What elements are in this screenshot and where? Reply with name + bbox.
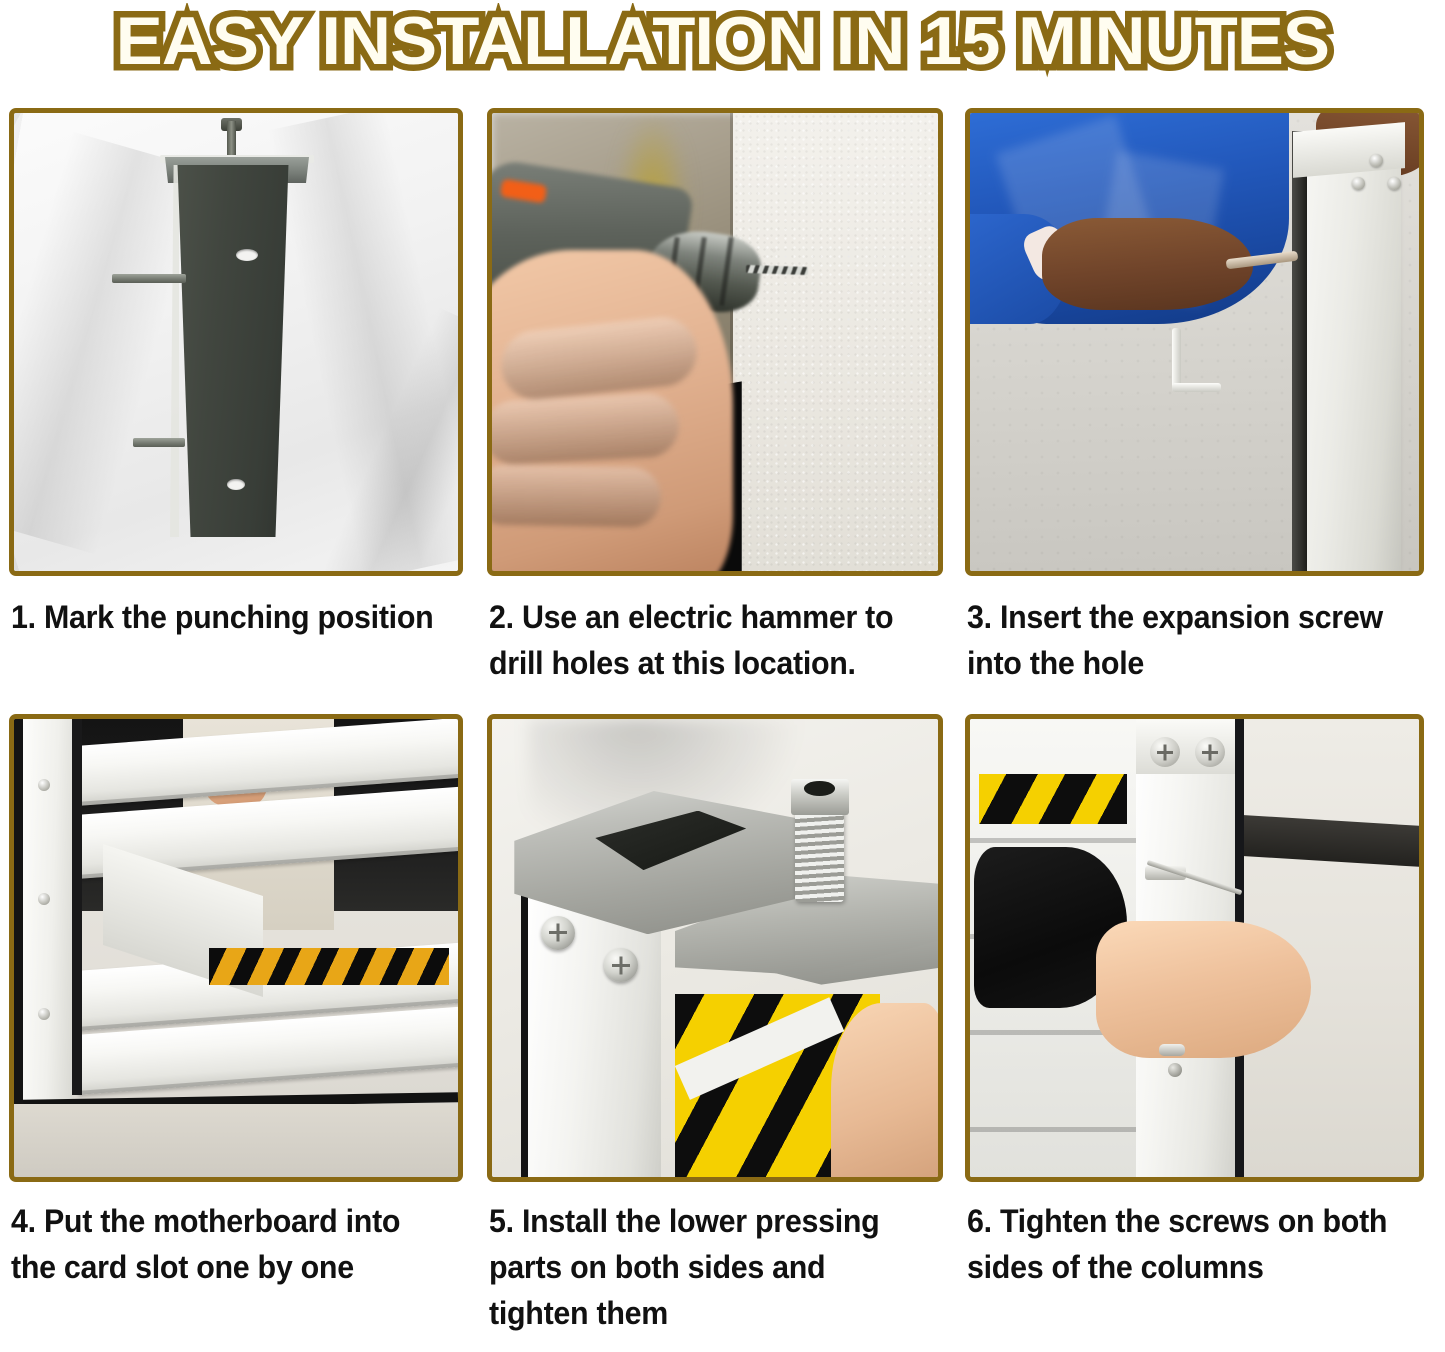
step-1-scene — [14, 113, 458, 571]
step-card-2: 2. Use an electric hammer to drill holes… — [477, 108, 955, 714]
step-5-scene — [492, 719, 938, 1177]
board-seam — [970, 838, 1150, 843]
step-4-photo — [9, 714, 463, 1182]
post-channel-groove — [72, 719, 83, 1095]
lower-screw-head — [1168, 1063, 1182, 1077]
page-title: EASY INSTALLATION IN 15 MINUTES — [116, 2, 1329, 80]
step-1-photo — [9, 108, 463, 576]
step-5-photo — [487, 714, 943, 1182]
bolt-hole-upper — [236, 249, 258, 261]
step-card-4: 4. Put the motherboard into the card slo… — [0, 714, 477, 1338]
bolt-hole-lower — [227, 479, 245, 490]
textured-wall — [733, 113, 938, 571]
step-card-1: 1. Mark the punching position — [0, 108, 477, 714]
alignment-pin-upper — [112, 274, 186, 283]
lower-screw-bracket — [1159, 1044, 1185, 1056]
step-card-3: 3. Insert the expansion screw into the h… — [955, 108, 1433, 714]
step-6-scene — [970, 719, 1419, 1177]
step-6-caption: 6. Tighten the screws on both sides of t… — [967, 1198, 1401, 1338]
board-seam — [970, 1127, 1150, 1132]
post-screw — [38, 1008, 50, 1020]
column-screw — [1150, 737, 1180, 767]
step-2-photo — [487, 108, 943, 576]
step-1-caption: 1. Mark the punching position — [11, 594, 440, 714]
hazard-stripe-tape — [209, 948, 449, 985]
allen-key-on-floor — [1172, 328, 1239, 392]
finger — [492, 392, 681, 466]
hex-socket-recess — [804, 781, 835, 796]
header-banner: EASY INSTALLATION IN 15 MINUTES — [0, 0, 1445, 108]
step-card-5: 5. Install the lower pressing parts on b… — [477, 714, 955, 1338]
step-6-photo — [965, 714, 1424, 1182]
finger — [492, 464, 662, 527]
alignment-pin-lower — [133, 438, 185, 447]
worker-forearm — [1042, 218, 1253, 310]
phillips-screw — [604, 948, 638, 982]
step-3-scene — [970, 113, 1419, 571]
step-4-scene — [14, 719, 458, 1177]
column-screw — [1195, 737, 1225, 767]
step-2-scene — [492, 113, 938, 571]
installer-hand — [1096, 921, 1312, 1058]
step-4-caption: 4. Put the motherboard into the card slo… — [11, 1198, 440, 1338]
white-column — [1307, 136, 1401, 571]
step-2-caption: 2. Use an electric hammer to drill holes… — [489, 594, 920, 714]
step-card-6: 6. Tighten the screws on both sides of t… — [955, 714, 1433, 1338]
post-screw — [38, 779, 50, 791]
column-top-cap — [1293, 122, 1405, 178]
floor-surface — [14, 1104, 458, 1177]
installer-hand — [831, 1003, 938, 1177]
column-shadow-edge — [1292, 131, 1306, 571]
step-3-photo — [965, 108, 1424, 576]
step-5-caption: 5. Install the lower pressing parts on b… — [489, 1198, 920, 1338]
installation-steps-grid: 1. Mark the punching position — [0, 108, 1445, 1338]
hazard-stripe-tape — [979, 774, 1127, 824]
step-3-caption: 3. Insert the expansion screw into the h… — [967, 594, 1401, 714]
phillips-screw — [541, 916, 575, 950]
